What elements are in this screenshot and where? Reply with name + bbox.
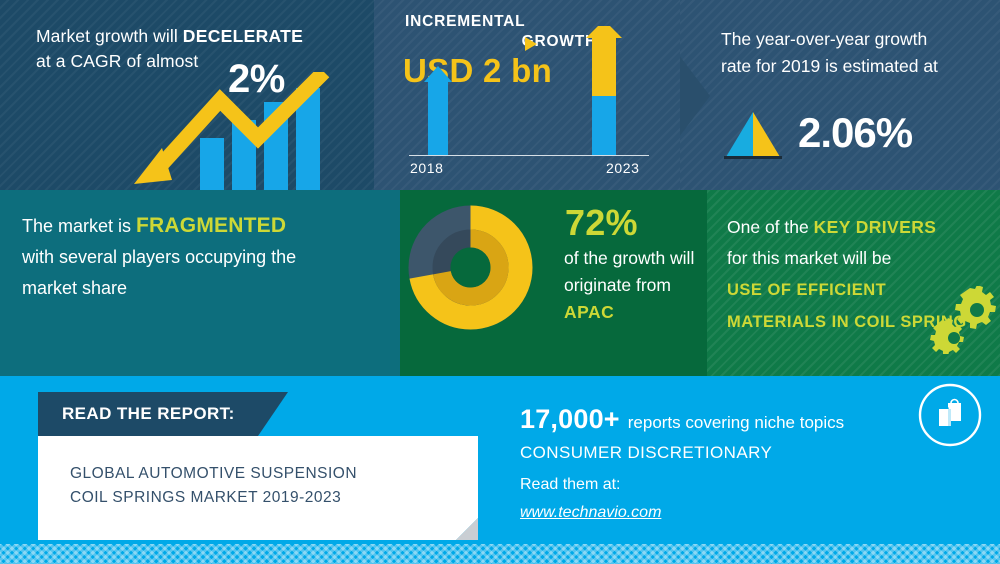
panel-apac-share: 72% of the growth will originate from AP…: [400, 190, 707, 376]
panel-footer: READ THE REPORT: GLOBAL AUTOMOTIVE SUSPE…: [0, 376, 1000, 564]
panel-cagr: Market growth will DECELERATE at a CAGR …: [0, 0, 374, 190]
apac-percentage: 72%: [565, 202, 638, 244]
apac-region: APAC: [564, 302, 614, 322]
triangle-growth-icon: [722, 112, 784, 160]
cagr-line2: at a CAGR of almost: [36, 51, 198, 71]
reports-stat: 17,000+reports covering niche topics: [520, 404, 844, 435]
fragmented-headline: The market is FRAGMENTED with several pl…: [22, 210, 382, 304]
panel-incremental-growth: INCREMENTAL GROWTH USD 2 bn 2018 2023: [374, 0, 680, 190]
panel-yoy-growth: The year-over-year growth rate for 2019 …: [680, 0, 1000, 190]
read-the-report-ribbon: READ THE REPORT:: [38, 392, 288, 436]
apac-description: of the growth will originate from APAC: [564, 245, 707, 326]
drivers-line3: USE OF EFFICIENT: [727, 281, 886, 299]
arrow-bar-chart-icon: [404, 26, 654, 156]
drivers-line1-prefix: One of the: [727, 217, 814, 237]
yoy-value: 2.06%: [798, 109, 912, 157]
declining-arrow-over-bar-chart-icon: [128, 72, 374, 190]
donut-chart: [408, 205, 533, 330]
yoy-headline: The year-over-year growth rate for 2019 …: [721, 26, 991, 80]
fragmented-line1-prefix: The market is: [22, 216, 136, 236]
drivers-line1-bold: KEY DRIVERS: [814, 217, 937, 237]
reports-count: 17,000+: [520, 404, 620, 434]
report-title-line2: COIL SPRINGS MARKET 2019-2023: [70, 489, 341, 506]
drivers-line2: for this market will be: [727, 248, 891, 268]
shopping-bags-icon: [917, 382, 983, 448]
gears-icon: [924, 286, 996, 354]
panel-fragmented-market: The market is FRAGMENTED with several pl…: [0, 190, 400, 376]
fragmented-line2: with several players occupying the: [22, 247, 296, 267]
read-them-at-label: Read them at:: [520, 476, 621, 494]
bottom-hatch-band: [0, 544, 1000, 564]
yoy-line2: rate for 2019 is estimated at: [721, 56, 938, 76]
incremental-year-start: 2018: [410, 160, 444, 176]
yoy-line1: The year-over-year growth: [721, 29, 927, 49]
fragmented-line3: market share: [22, 278, 127, 298]
fragmented-line1-bold: FRAGMENTED: [136, 214, 286, 237]
cagr-line1-prefix: Market growth will: [36, 26, 183, 46]
ribbon-label: READ THE REPORT:: [62, 404, 235, 424]
panel-key-drivers: One of the KEY DRIVERS for this market w…: [707, 190, 1000, 376]
report-title-card[interactable]: GLOBAL AUTOMOTIVE SUSPENSION COIL SPRING…: [38, 436, 478, 540]
incremental-year-end: 2023: [606, 160, 640, 176]
reports-caption: reports covering niche topics: [620, 413, 844, 432]
sector-label: CONSUMER DISCRETIONARY: [520, 443, 772, 463]
technavio-url-link[interactable]: www.technavio.com: [520, 504, 661, 522]
report-title-line1: GLOBAL AUTOMOTIVE SUSPENSION: [70, 465, 357, 482]
apac-line2: originate from: [564, 275, 671, 295]
cagr-headline: Market growth will DECELERATE at a CAGR …: [36, 24, 336, 74]
cagr-line1-bold: DECELERATE: [183, 26, 303, 46]
apac-line1: of the growth will: [564, 248, 694, 268]
incremental-axis-line: [409, 155, 649, 156]
report-title: GLOBAL AUTOMOTIVE SUSPENSION COIL SPRING…: [70, 462, 450, 510]
infographic-root: Market growth will DECELERATE at a CAGR …: [0, 0, 1000, 564]
